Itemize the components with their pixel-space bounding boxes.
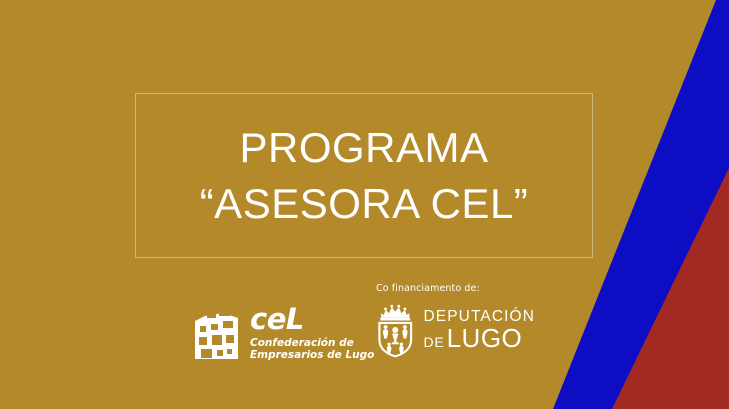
deputacion-line-1: DEPUTACIÓN bbox=[424, 309, 535, 325]
deputacion-logo-row: DEPUTACIÓN DE LUGO bbox=[375, 299, 535, 361]
cel-subtitle-line-1: Confederación de bbox=[250, 337, 374, 350]
cel-subtitle-line-2: Empresarios de Lugo bbox=[250, 349, 374, 362]
deputacion-de-label: DE bbox=[424, 335, 445, 349]
cel-building-mark-icon bbox=[193, 309, 241, 359]
page-title: PROGRAMA “ASESORA CEL” bbox=[135, 93, 593, 258]
deputacion-logo: Co financiamento de: bbox=[375, 283, 535, 361]
deputacion-line-2: DE LUGO bbox=[424, 325, 535, 351]
deputacion-lugo-label: LUGO bbox=[447, 325, 523, 351]
logo-row: ceL Confederación de Empresarios de Lugo… bbox=[0, 283, 729, 375]
title-line-2: “ASESORA CEL” bbox=[200, 179, 529, 229]
cel-logo: ceL Confederación de Empresarios de Lugo bbox=[193, 306, 374, 362]
cel-text-block: ceL Confederación de Empresarios de Lugo bbox=[250, 306, 374, 362]
title-slide: PROGRAMA “ASESORA CEL” bbox=[0, 0, 729, 409]
cel-wordmark: ceL bbox=[250, 306, 374, 334]
cofinancing-caption: Co financiamento de: bbox=[376, 283, 535, 294]
title-line-1: PROGRAMA bbox=[239, 123, 488, 173]
lugo-coat-of-arms-icon bbox=[375, 299, 416, 361]
deputacion-text-block: DEPUTACIÓN DE LUGO bbox=[424, 309, 535, 352]
